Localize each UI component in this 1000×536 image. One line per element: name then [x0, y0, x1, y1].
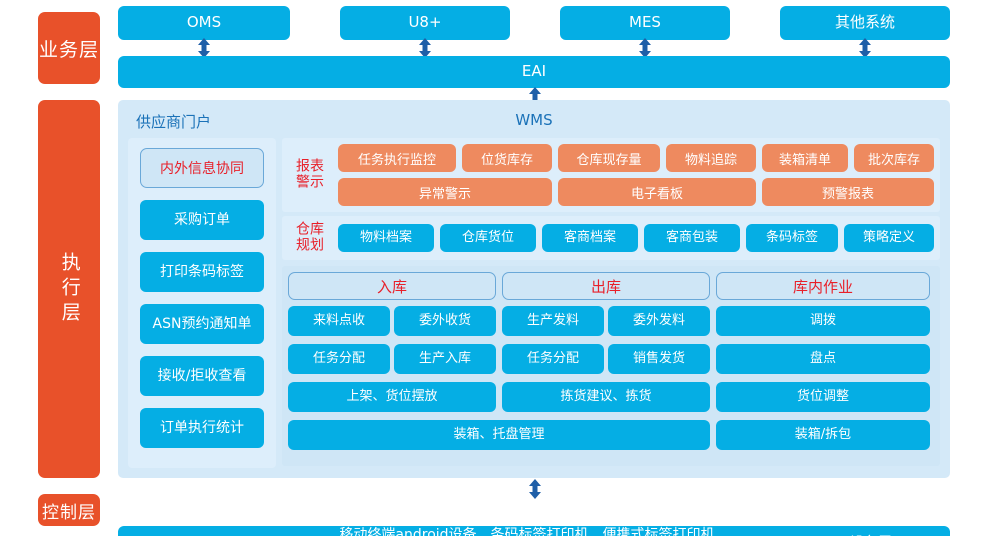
system-label: 其他系统 [835, 14, 895, 31]
ops-cell-label: 生产入库 [419, 352, 471, 367]
system-label: MES [629, 14, 661, 31]
portal-item-accept-reject[interactable]: 接收/拒收查看 [140, 356, 264, 396]
report-item-packing-list[interactable]: 装箱清单 [762, 144, 848, 172]
layer-label-business-line1: 业务层 [39, 35, 99, 62]
ops-cell-label: 委外收货 [419, 314, 471, 329]
planning-item-warehouse-location[interactable]: 仓库货位 [440, 224, 536, 252]
report-item-label: 仓库现存量 [576, 149, 641, 168]
ops-cell-sales-shipment[interactable]: 销售发货 [608, 344, 710, 374]
ops-cell-production-issue[interactable]: 生产发料 [502, 306, 604, 336]
planning-item-customer-file[interactable]: 客商档案 [542, 224, 638, 252]
portal-item-label: 内外信息协同 [160, 158, 244, 178]
layer-label-control: 控制层 [38, 494, 100, 526]
report-warning-section: 报表 警示 任务执行监控 位货库存 仓库现存量 物料追踪 装箱清单 [282, 138, 940, 212]
report-item-alert-report[interactable]: 预警报表 [762, 178, 934, 206]
planning-item-label: 仓库货位 [462, 231, 514, 246]
system-label: U8+ [408, 14, 441, 31]
report-item-material-trace[interactable]: 物料追踪 [666, 144, 756, 172]
planning-item-label: 客商档案 [564, 231, 616, 246]
ops-cell-location-adjust[interactable]: 货位调整 [716, 382, 930, 412]
control-layer-devices-bar[interactable]: 移动终端android设备、条码标签打印机、便携式标签打印机、RFID、电子称、… [118, 526, 950, 536]
layer-label-control-text: 控制层 [42, 498, 96, 523]
report-item-label: 位货库存 [481, 149, 533, 168]
ops-cell-outsource-receipt[interactable]: 委外收货 [394, 306, 496, 336]
system-box-u8[interactable]: U8+ [340, 6, 510, 40]
report-item-label: 电子看板 [631, 183, 683, 202]
ops-cell-incoming-receipt[interactable]: 来料点收 [288, 306, 390, 336]
ops-cell-label: 调拨 [810, 314, 836, 329]
ops-cell-label: 上架、货位摆放 [346, 390, 437, 405]
report-item-label: 异常警示 [419, 183, 471, 202]
ops-cell-production-inbound[interactable]: 生产入库 [394, 344, 496, 374]
report-warning-section-label: 报表 警示 [290, 159, 330, 190]
double-arrow-icon [418, 38, 432, 58]
ops-cell-packing-pallet-mgmt[interactable]: 装箱、托盘管理 [288, 420, 710, 450]
portal-item-asn-notice[interactable]: ASN预约通知单 [140, 304, 264, 344]
planning-item-label: 策略定义 [863, 231, 915, 246]
eai-label: EAI [522, 63, 546, 80]
double-arrow-icon [528, 479, 542, 499]
operations-section: 入库 出库 库内作业 来料点收 委外收货 生产发料 [282, 266, 940, 466]
planning-item-barcode-label[interactable]: 条码标签 [746, 224, 838, 252]
devices-label: 移动终端android设备、条码标签打印机、便携式标签打印机、RFID、电子称、… [326, 527, 742, 536]
wms-panel: 供应商门户 WMS 内外信息协同 采购订单 打印条码标签 ASN预约通知单 接收… [118, 100, 950, 478]
ops-cell-putaway-placement[interactable]: 上架、货位摆放 [288, 382, 496, 412]
ops-header-outbound[interactable]: 出库 [502, 272, 710, 300]
system-label: OMS [187, 14, 221, 31]
portal-item-purchase-order[interactable]: 采购订单 [140, 200, 264, 240]
ops-cell-label: 盘点 [810, 352, 836, 367]
layer-label-execution-text: 执行层 [54, 252, 83, 327]
portal-item-order-stats[interactable]: 订单执行统计 [140, 408, 264, 448]
ops-header-in-warehouse[interactable]: 库内作业 [716, 272, 930, 300]
double-arrow-icon [197, 38, 211, 58]
system-box-mes[interactable]: MES [560, 6, 730, 40]
portal-item-label: ASN预约通知单 [153, 316, 252, 332]
ops-cell-label: 委外发料 [633, 314, 685, 329]
eai-bus[interactable]: EAI [118, 56, 950, 88]
ops-header-label: 库内作业 [793, 276, 853, 297]
wms-content-column: 报表 警示 任务执行监控 位货库存 仓库现存量 物料追踪 装箱清单 [282, 138, 940, 468]
report-item-task-monitor[interactable]: 任务执行监控 [338, 144, 456, 172]
system-box-other[interactable]: 其他系统 [780, 6, 950, 40]
ops-cell-label: 装箱、托盘管理 [453, 428, 544, 443]
double-arrow-icon [638, 38, 652, 58]
ops-cell-pick-suggestion[interactable]: 拣货建议、拣货 [502, 382, 710, 412]
ops-header-label: 出库 [591, 276, 621, 297]
ops-cell-task-assign-in[interactable]: 任务分配 [288, 344, 390, 374]
planning-item-strategy-definition[interactable]: 策略定义 [844, 224, 934, 252]
portal-item-label: 接收/拒收查看 [158, 368, 247, 384]
wms-label: WMS [515, 111, 552, 129]
ops-header-label: 入库 [377, 276, 407, 297]
double-arrow-icon [858, 38, 872, 58]
report-item-label: 装箱清单 [779, 149, 831, 168]
planning-item-material-file[interactable]: 物料档案 [338, 224, 434, 252]
report-item-label: 任务执行监控 [358, 149, 436, 168]
ops-cell-pack-unpack[interactable]: 装箱/拆包 [716, 420, 930, 450]
report-item-label: 物料追踪 [685, 149, 737, 168]
warehouse-planning-section-label: 仓库 规划 [290, 222, 330, 253]
report-item-location-stock[interactable]: 位货库存 [462, 144, 552, 172]
layer-label-execution: 执行层 [38, 100, 100, 478]
report-item-dashboard[interactable]: 电子看板 [558, 178, 756, 206]
report-item-batch-stock[interactable]: 批次库存 [854, 144, 934, 172]
report-item-warehouse-onhand[interactable]: 仓库现存量 [558, 144, 660, 172]
ops-cell-label: 拣货建议、拣货 [560, 390, 651, 405]
supplier-portal-column: 内外信息协同 采购订单 打印条码标签 ASN预约通知单 接收/拒收查看 订单执行… [128, 138, 276, 468]
report-item-exception-alert[interactable]: 异常警示 [338, 178, 552, 206]
ops-header-inbound[interactable]: 入库 [288, 272, 496, 300]
ops-cell-stocktaking[interactable]: 盘点 [716, 344, 930, 374]
system-box-oms[interactable]: OMS [118, 6, 290, 40]
ops-cell-label: 货位调整 [797, 390, 849, 405]
ops-cell-outsource-issue[interactable]: 委外发料 [608, 306, 710, 336]
ops-cell-label: 任务分配 [527, 352, 579, 367]
ops-cell-label: 装箱/拆包 [795, 428, 851, 443]
portal-item-label: 打印条码标签 [160, 264, 244, 280]
planning-item-customer-packaging[interactable]: 客商包装 [644, 224, 740, 252]
planning-item-label: 客商包装 [666, 231, 718, 246]
ops-cell-transfer[interactable]: 调拨 [716, 306, 930, 336]
ops-cell-label: 销售发货 [633, 352, 685, 367]
supplier-portal-label: 供应商门户 [136, 111, 211, 132]
warehouse-planning-section: 仓库 规划 物料档案 仓库货位 客商档案 客商包装 条码标签 [282, 216, 940, 260]
portal-item-label: 订单执行统计 [160, 420, 244, 436]
ops-cell-label: 生产发料 [527, 314, 579, 329]
portal-item-label: 采购订单 [174, 212, 230, 228]
architecture-diagram: 业务层 OMS U8+ MES 其他系统 EAI 执行层 供应商门户 WMS [0, 0, 1000, 536]
ops-cell-label: 任务分配 [313, 352, 365, 367]
portal-item-info-collab[interactable]: 内外信息协同 [140, 148, 264, 188]
ops-cell-task-assign-out[interactable]: 任务分配 [502, 344, 604, 374]
report-item-label: 预警报表 [822, 183, 874, 202]
layer-label-business: 业务层 [38, 12, 100, 84]
report-item-label: 批次库存 [868, 149, 920, 168]
ops-cell-label: 来料点收 [313, 314, 365, 329]
planning-item-label: 物料档案 [360, 231, 412, 246]
portal-item-print-barcode[interactable]: 打印条码标签 [140, 252, 264, 292]
planning-item-label: 条码标签 [766, 231, 818, 246]
